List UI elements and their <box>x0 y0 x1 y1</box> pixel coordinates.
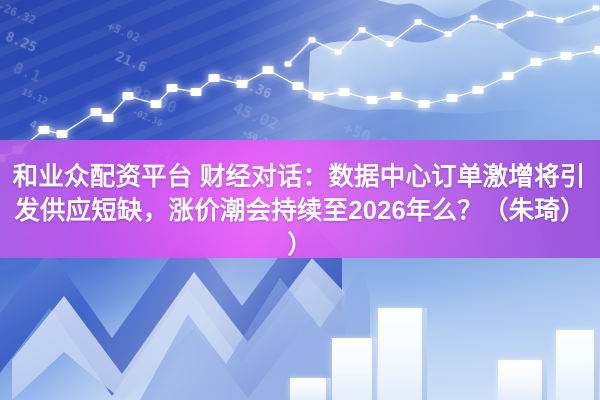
headline-line-1: 和业众配资平台 财经对话：数据中心订单激增将引 <box>13 160 586 194</box>
headline-line-2: 发供应短缺，涨价潮会持续至2026年么？（朱琦） <box>14 194 586 228</box>
headline-line-3: ） <box>287 228 312 262</box>
banner-image: -11.25+5.02-02.36+50.02-26.3221.645.024.… <box>0 0 600 400</box>
headline-block: 和业众配资平台 财经对话：数据中心订单激增将引 发供应短缺，涨价潮会持续至202… <box>0 140 600 260</box>
